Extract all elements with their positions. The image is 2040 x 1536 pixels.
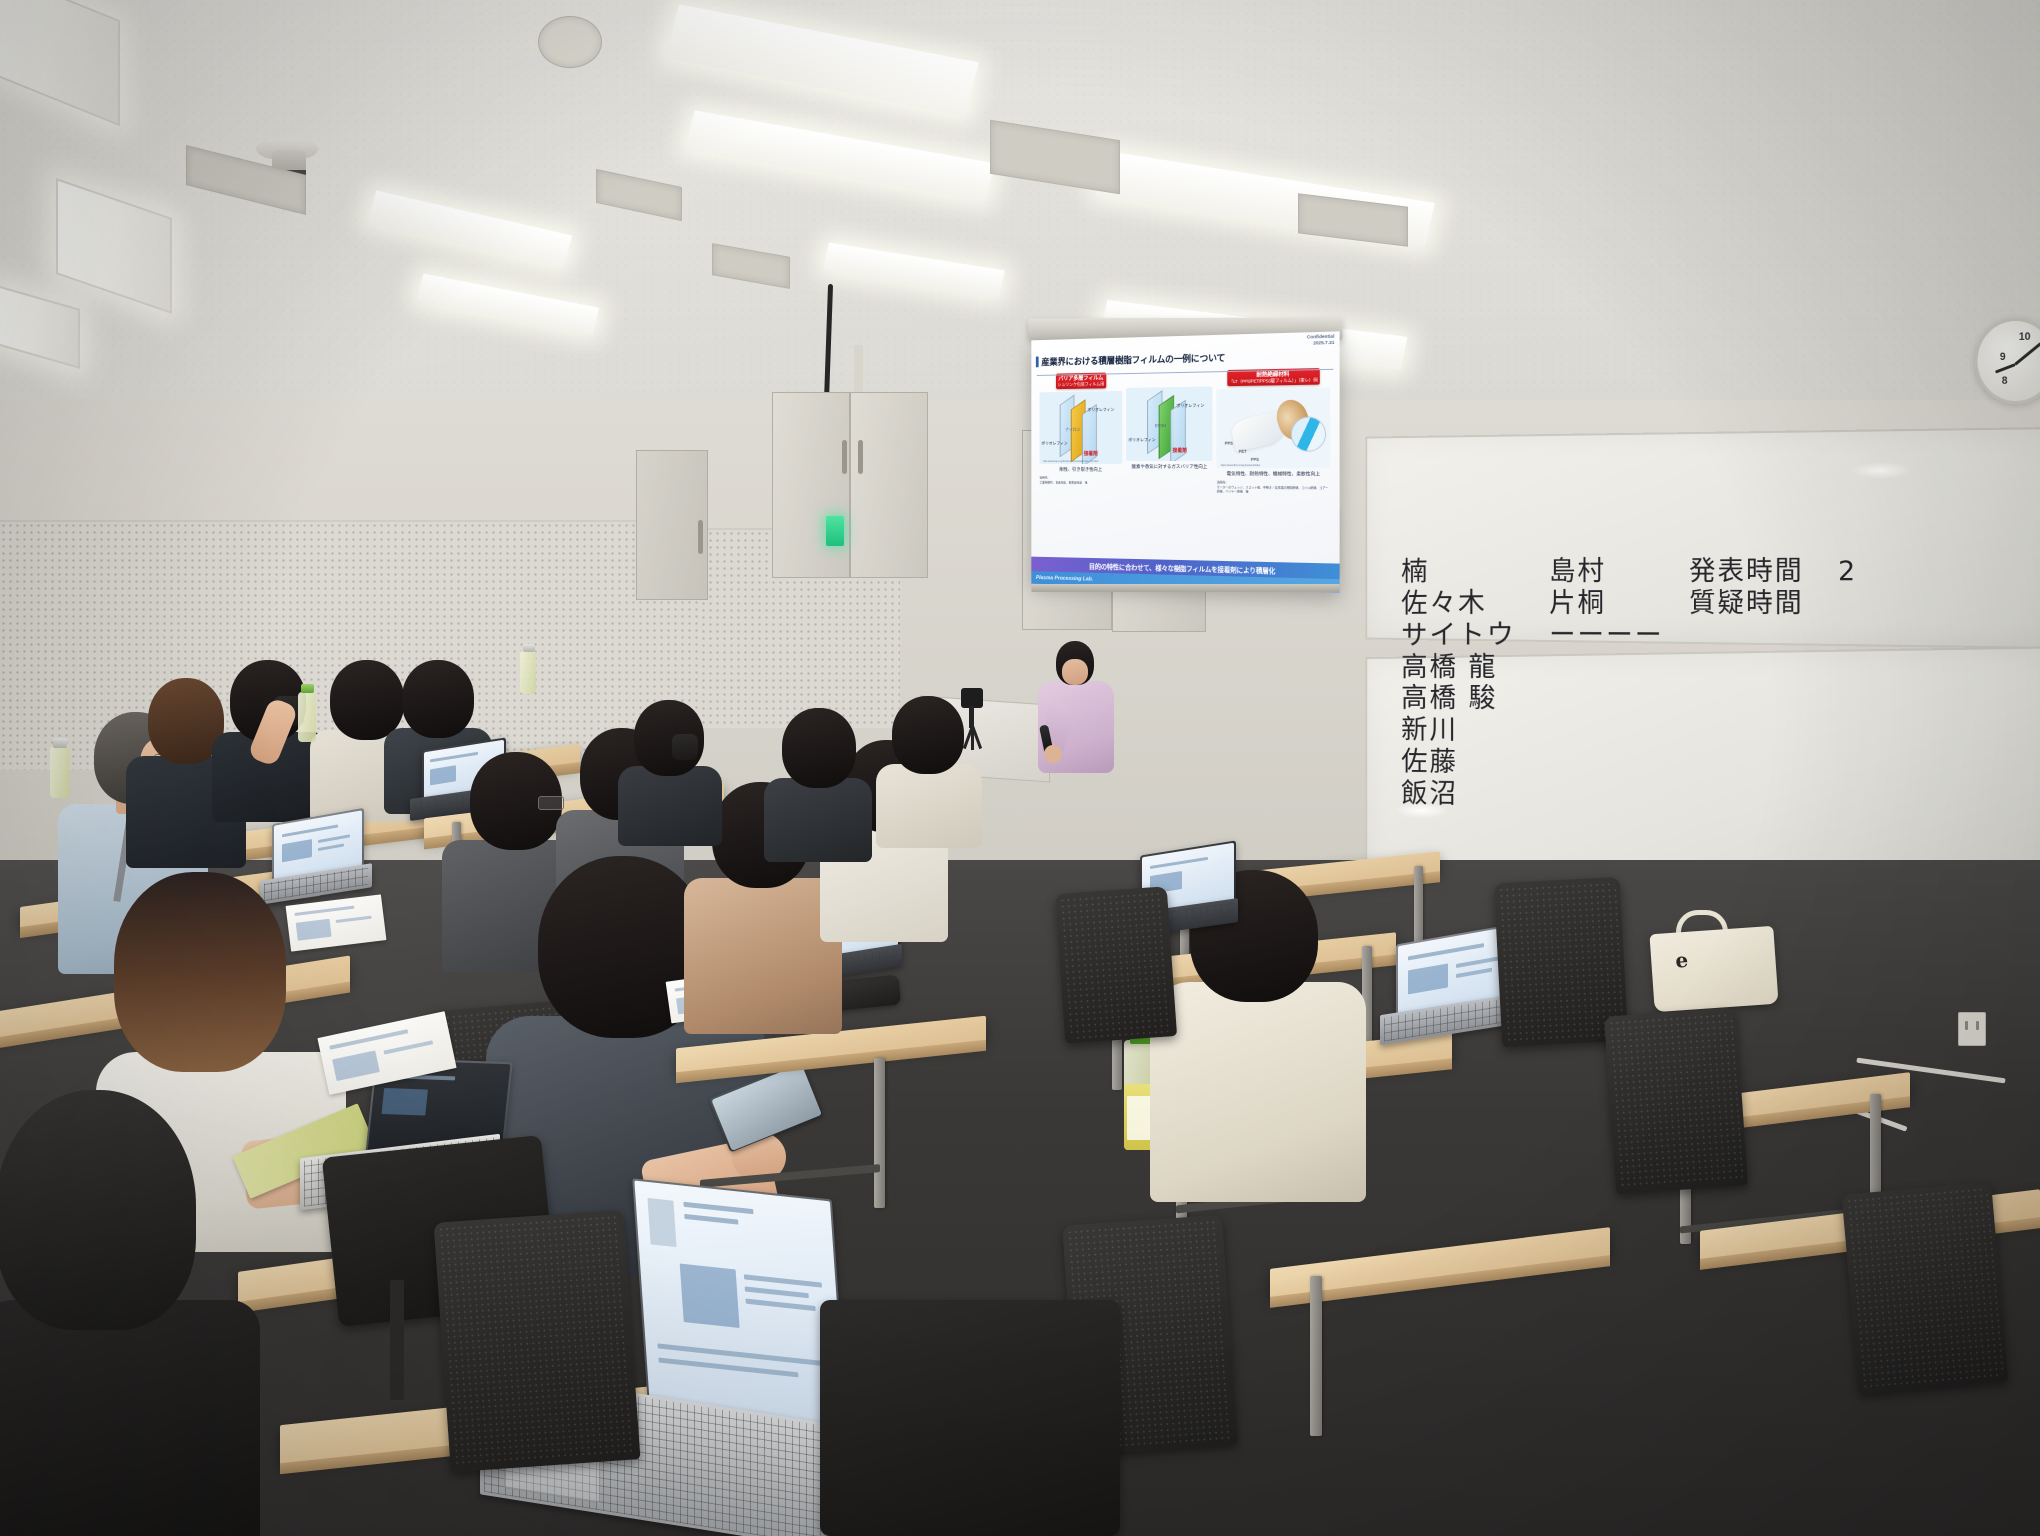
whiteboard-schedule-values: 2 [1838,556,1857,588]
presenter-hand [1044,745,1062,763]
student-person [764,708,874,858]
desk-leg [1310,1276,1322,1436]
tote-bag-logo: e [1674,948,1688,973]
exit-indicator-light [826,516,844,546]
film-label-polyolefin-bottom: ポリオレフィン [1041,441,1067,447]
slide-title: 産業界における積層樹脂フィルムの一例について [1041,351,1225,368]
film-label-nylon: ナイロン [1065,427,1080,433]
bottle-cap [523,644,535,652]
student-torso [0,1300,260,1536]
wall-cabinet[interactable] [850,392,928,578]
whiteboard-name: 佐々木 [1401,587,1516,620]
film-label-adhesive: 接着剤 [1084,450,1098,457]
layer-label-pps-top: PPS [1225,441,1233,446]
whiteboard-names-column-2: 島村 片桐 ーーーー [1549,556,1664,652]
slide-column-1: バリア多層フィルム シュリンク包装フィルム用 ポリオレフィン ナイロン ポリオレ… [1040,372,1123,492]
clock-hand-hour [1995,363,2016,373]
document-line [1150,857,1208,869]
chair-backrest [434,1210,641,1473]
slide-title-accent-bar [1036,357,1039,368]
whiteboard-glare [1849,462,1911,479]
student-head [114,872,286,1072]
document-line [744,1274,822,1287]
chair-backrest [1604,1008,1748,1195]
document-line [1456,968,1492,978]
student-torso [618,766,722,846]
paper-line [329,1029,408,1050]
door-handle[interactable] [698,520,703,554]
whiteboard-name: 高橋 駿 [1401,683,1516,715]
layer-label-pps-bottom: PPS [1251,457,1259,462]
slide-badge-sub: シュリンク包装フィルム用 [1057,381,1104,388]
chair-mesh [1846,1186,2004,1390]
slide-diagram-evoh-film: ポリオレフィン EVOH ポリオレフィン 接着剤 [1126,386,1213,461]
water-bottle [50,746,70,798]
presenter-person [1034,641,1116,789]
whiteboard-name: 高橋 龍 [1401,651,1516,683]
chair-mesh [1498,881,1624,1043]
slide-note-body-3: モーターのウェッジ、スロット紙、中敷き／変圧器の相間絶縁、コイル絶縁、コアー絶縁… [1217,485,1330,494]
whiteboard-names-column-1: 楠 佐々木 サイトウ 高橋 龍 高橋 駿 新川 佐藤 飯沼 [1401,555,1516,812]
whiteboard-name: 島村 [1549,556,1664,588]
slide-note-3: 適用先： モーターのウェッジ、スロット紙、中敷き／変圧器の相間絶縁、コイル絶縁、… [1217,481,1330,495]
clock-number-8: 8 [2002,375,2008,387]
ceiling-texture [0,0,2040,430]
chair-backrest [1055,886,1177,1043]
whiteboard-label-qa-time: 質疑時間 [1689,588,1804,620]
whiteboard-name: 楠 [1401,555,1516,589]
document-block [680,1263,740,1328]
film-label-polyolefin-top: ポリオレフィン [1176,403,1204,409]
slide-note-1: 適用先： 工業用部材、食品包装、医薬品包装 等 [1040,476,1123,485]
student-head [782,708,856,788]
whiteboard-name: サイトウ [1401,619,1516,652]
ceiling [0,0,2040,430]
slide-title-row: 産業界における積層樹脂フィルムの一例について [1036,348,1335,368]
chair-mesh [1608,1012,1744,1190]
whiteboard-dashes: ーーーー [1549,620,1664,652]
slide-source-url: https://www.films.toray/products/ls/ltj/ [1221,464,1260,467]
slide-confidential-mark: Confidential 2025.7.31 [1307,334,1335,347]
projection-screen-bottom-bar [1031,584,1339,592]
document-line [1456,956,1500,968]
document-block [381,1088,427,1116]
chair-mesh [438,1214,636,1468]
clock-number-9: 9 [2000,351,2006,363]
student-head [892,696,964,774]
whiteboard-label-presentation-time: 発表時間 [1689,556,1804,588]
slide-column-2: ポリオレフィン EVOH ポリオレフィン 接着剤 酸素や香気に対するガスバリア性… [1126,370,1213,493]
cabinet-handle[interactable] [858,440,863,474]
document-line [318,843,344,851]
student-person-foreground [0,1090,270,1536]
ceiling-speaker-grille [538,16,602,68]
document-block [1408,963,1448,994]
whiteboard-value-qa-time: 2 [1838,556,1857,588]
film-label-polyolefin-top: ポリオレフィン [1088,407,1115,413]
document-line [282,824,338,837]
document-line [318,834,350,843]
document-block [282,839,312,862]
clock-number-10: 10 [2019,331,2031,343]
student-torso [1150,982,1366,1202]
slide-caption-3: 電気特性、耐熱特性、機械特性、柔軟性向上 [1217,471,1330,478]
film-label-adhesive: 接着剤 [1172,447,1187,454]
student-torso [876,764,982,848]
laptop-lid [632,1178,848,1431]
classroom-photo-scene: 4302教室 机 20台 椅子 60脚 教室内 飲食禁止 Confidentia… [0,0,2040,1536]
student-torso [684,878,842,1034]
slide-column-3: 耐熱絶縁材料 「LT（PPS/PET/PPS3層フィルム）」（東レ）例 PPS … [1217,368,1330,494]
slide-badge-sub: 「LT（PPS/PET/PPS3層フィルム）」（東レ）例 [1229,377,1318,385]
face-mask [672,734,698,760]
whiteboard-schedule-labels: 発表時間 質疑時間 [1689,556,1804,620]
paper-line [383,1040,433,1054]
chair-mesh [1059,891,1173,1040]
backpack [820,1300,1120,1536]
slide-source-url: http://www.dnp.co.jp/biz/products/market… [1043,460,1098,463]
whiteboard-name: 新川 [1401,715,1516,748]
chair-backrest [1842,1182,2009,1394]
student-person [876,696,984,846]
document-line [683,1202,753,1214]
laptop-screen [634,1180,845,1429]
student-torso [764,778,872,862]
wall-cabinet[interactable] [772,392,850,578]
water-bottle [298,692,316,742]
tote-bag: e [1649,926,1778,1012]
document-line [745,1286,809,1298]
slide-lab-logo: Plasma Processing Lab. [1036,575,1093,582]
cabinet-handle[interactable] [842,440,847,474]
document-line [745,1299,815,1311]
paper-block [332,1050,380,1081]
water-bottle [520,650,536,694]
document-line [1408,943,1484,960]
student-person [618,700,724,845]
presenter-face [1062,659,1088,685]
projection-screen: Confidential 2025.7.31 産業界における積層樹脂フィルムの一… [1031,331,1339,592]
student-headscarf [0,1090,196,1330]
student-head [402,660,474,738]
film-label-polyolefin-bottom: ポリオレフィン [1128,437,1155,443]
layer-label-pet: PET [1239,449,1247,454]
film-label-evoh: EVOH [1155,423,1166,428]
bottle-cap [53,738,67,748]
projector-mount-rod [854,345,863,397]
chair-post [390,1280,404,1400]
slide-caption-2: 酸素や香気に対するガスバリア性向上 [1126,464,1213,471]
presentation-slide: Confidential 2025.7.31 産業界における積層樹脂フィルムの一… [1031,331,1339,592]
document-line [647,1198,676,1247]
bottle-cap [301,684,314,693]
slide-date: 2025.7.31 [1307,340,1335,347]
whiteboard-name: 片桐 [1549,588,1664,620]
document-line [684,1214,738,1225]
clock-hand-minute [2014,342,2040,365]
slide-note-body-1: 工業用部材、食品包装、医薬品包装 等 [1040,480,1123,485]
slide-diagram-barrier-film: ポリオレフィン ナイロン ポリオレフィン 接着剤 http://www.dnp.… [1040,391,1123,464]
wall-power-outlet[interactable] [1958,1012,1986,1046]
slide-photo-film-roll: PPS PET PPS https://www.films.toray/prod… [1217,388,1330,469]
desk-leg [874,1058,885,1208]
slide-columns: バリア多層フィルム シュリンク包装フィルム用 ポリオレフィン ナイロン ポリオレ… [1036,368,1335,494]
whiteboard-name: 飯沼 [1401,778,1516,812]
whiteboard-name: 佐藤 [1401,747,1516,780]
film-cross-section-zoom [1291,417,1326,452]
slide-caption-1: 剛性、引き裂き性向上 [1040,467,1123,473]
